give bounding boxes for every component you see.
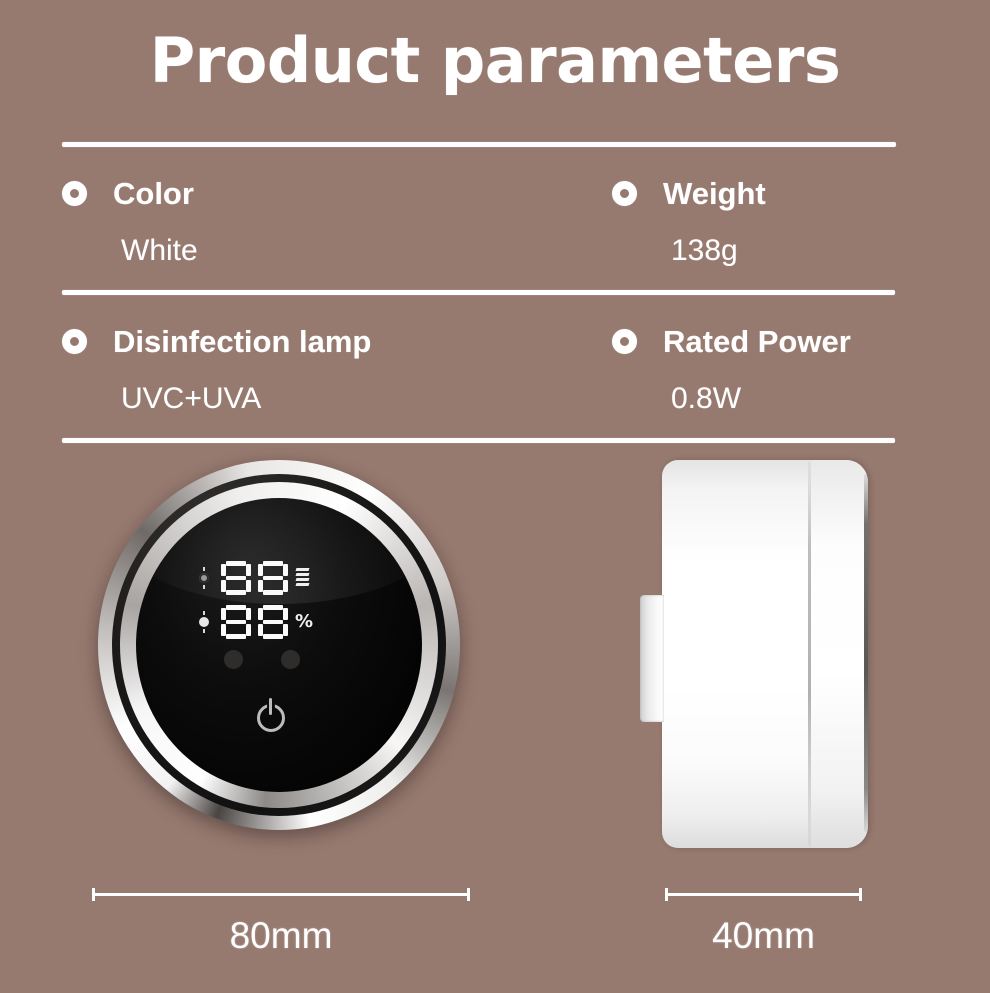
lcd-digits-humidity — [221, 605, 288, 639]
lcd-row-temperature — [193, 560, 363, 596]
sun-bright-icon — [193, 611, 215, 633]
spec-value: White — [121, 236, 612, 266]
spec-cell-rated-power: Rated Power 0.8W — [612, 295, 896, 438]
dimension-line — [665, 888, 862, 901]
device-seam-line — [808, 462, 811, 846]
ring-bullet-icon — [62, 329, 87, 354]
spec-table: Color White Weight 138g Disinfection lam… — [62, 142, 896, 443]
ring-bullet-icon — [612, 181, 637, 206]
spec-head: Rated Power — [612, 321, 896, 361]
lcd-digits-temperature — [221, 561, 288, 595]
spec-head: Weight — [612, 173, 896, 213]
spec-label: Disinfection lamp — [113, 326, 371, 357]
dimension-depth: 40mm — [665, 888, 862, 954]
celsius-icon — [296, 567, 310, 589]
round-disinfection-device-side — [662, 460, 868, 848]
spec-row: Color White Weight 138g — [62, 147, 896, 290]
spec-label: Rated Power — [663, 326, 851, 357]
dimension-label: 80mm — [92, 917, 470, 954]
spec-label: Weight — [663, 178, 766, 209]
indicator-dots — [224, 650, 320, 670]
sun-dim-icon — [193, 567, 215, 589]
spec-row: Disinfection lamp UVC+UVA Rated Power 0.… — [62, 295, 896, 438]
power-icon[interactable] — [255, 698, 289, 732]
lcd-display: % — [193, 560, 363, 640]
round-disinfection-device-front: % — [90, 450, 470, 840]
mount-tab — [640, 595, 664, 722]
seven-segment-digit — [221, 605, 251, 639]
seven-segment-digit — [258, 605, 288, 639]
dimension-line — [92, 888, 470, 901]
device-back-edge — [864, 474, 868, 832]
spec-value: 138g — [671, 236, 896, 266]
dimension-diameter: 80mm — [92, 888, 470, 954]
seven-segment-digit — [221, 561, 251, 595]
spec-value: UVC+UVA — [121, 384, 612, 414]
ring-bullet-icon — [612, 329, 637, 354]
spec-cell-weight: Weight 138g — [612, 147, 896, 290]
indicator-dot — [224, 650, 243, 669]
spec-head: Color — [62, 173, 612, 213]
spec-label: Color — [113, 178, 194, 209]
divider-bottom — [62, 438, 895, 443]
device-glass-face — [136, 498, 422, 792]
device-back-cap — [811, 460, 868, 848]
product-image-area: % — [0, 450, 990, 870]
spec-value: 0.8W — [671, 384, 896, 414]
lcd-row-humidity: % — [193, 604, 363, 640]
dimension-label: 40mm — [665, 917, 862, 954]
spec-head: Disinfection lamp — [62, 321, 612, 361]
indicator-dot — [281, 650, 300, 669]
seven-segment-digit — [258, 561, 288, 595]
spec-cell-disinfection-lamp: Disinfection lamp UVC+UVA — [62, 295, 612, 438]
page-title: Product parameters — [0, 30, 990, 92]
ring-bullet-icon — [62, 181, 87, 206]
spec-cell-color: Color White — [62, 147, 612, 290]
percent-icon: % — [295, 613, 313, 631]
